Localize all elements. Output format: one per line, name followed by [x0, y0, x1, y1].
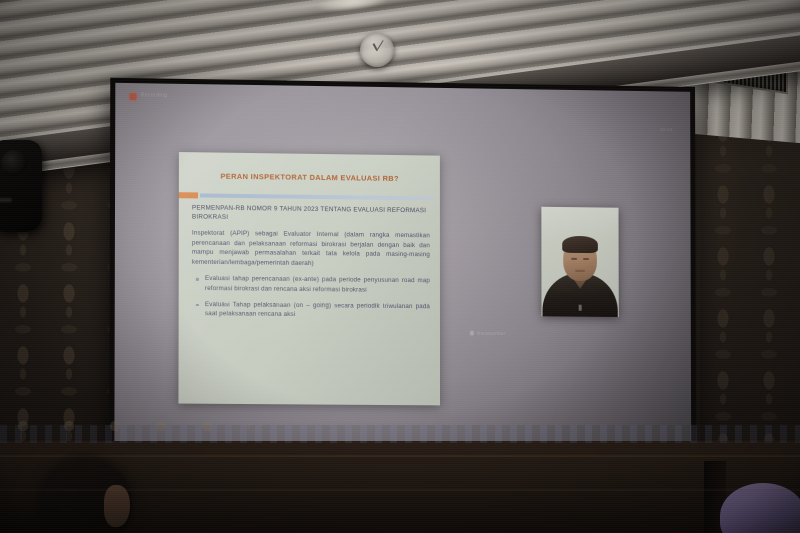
participant-head — [563, 239, 597, 281]
wall-clock-icon — [360, 33, 394, 67]
presentation-slide: PERAN INSPEKTORAT DALAM EVALUASI RB? PER… — [178, 152, 440, 405]
slide-accent-bar — [179, 192, 434, 201]
slide-law-heading: PERMENPAN-RB NOMOR 9 TAHUN 2023 TENTANG … — [192, 204, 430, 225]
conference-room-photo: Recording 15:04 PERAN INSPEKTORAT DALAM … — [0, 0, 800, 533]
wood-panelling — [0, 441, 800, 533]
recording-label: Recording — [141, 92, 168, 98]
microphone-icon — [470, 331, 474, 336]
audience-face-left — [104, 485, 130, 527]
participant-hair — [562, 236, 598, 253]
participant-badge — [579, 305, 582, 311]
wall-speaker — [0, 140, 42, 232]
slide-body: PERMENPAN-RB NOMOR 9 TAHUN 2023 TENTANG … — [192, 204, 430, 321]
damask-wallpaper-right — [700, 120, 800, 443]
speaker-cone-icon — [1, 150, 27, 176]
speaker-highlight — [0, 198, 12, 202]
clock-minute-hand — [376, 40, 384, 51]
slide-bullet-item: Evaluasi tahap perencanaan (ex-ante) pad… — [192, 274, 430, 296]
slide-bullet-item: Evaluasi Tahap pelaksanaan (on – going) … — [192, 300, 430, 322]
decorative-medallions — [0, 411, 250, 441]
screen-corner-label: 15:04 — [660, 127, 673, 132]
participant-name-label: Narasumber — [477, 331, 506, 336]
participant-figure — [541, 239, 618, 317]
video-participant-tile[interactable] — [541, 207, 618, 317]
audience-member-right — [720, 483, 800, 533]
accent-block-orange — [179, 192, 198, 198]
participant-mouth — [575, 270, 585, 272]
slide-paragraph: Inspektorat (APIP) sebagai Evaluator Int… — [192, 228, 430, 269]
audience-member-left — [40, 459, 132, 533]
recording-indicator-icon — [129, 93, 136, 100]
slide-bullet-list: Evaluasi tahap perencanaan (ex-ante) pad… — [192, 274, 430, 321]
participant-eye-right — [583, 258, 589, 260]
accent-bar-blue — [200, 193, 434, 200]
participant-eye-left — [571, 258, 577, 260]
slide-title: PERAN INSPEKTORAT DALAM EVALUASI RB? — [179, 171, 440, 183]
